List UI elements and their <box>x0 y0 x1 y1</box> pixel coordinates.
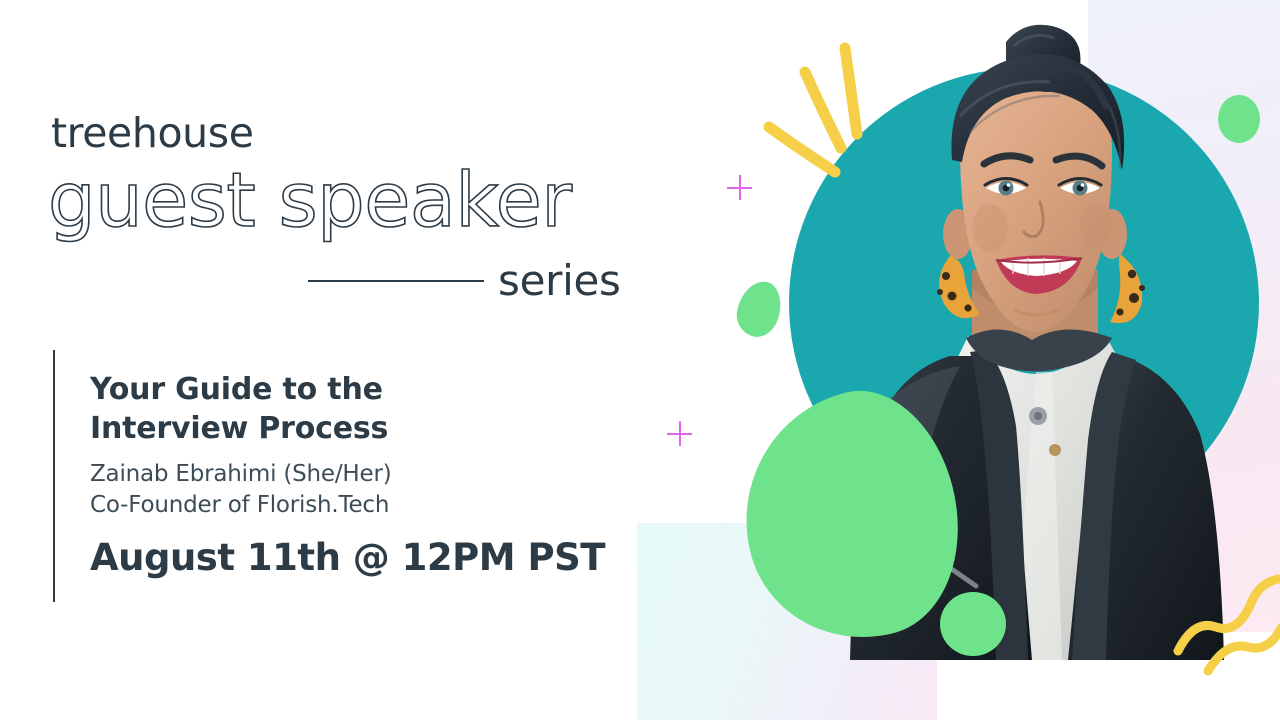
text-column: treehouse guest speaker series Your Guid… <box>0 0 660 720</box>
session-datetime: August 11th @ 12PM PST <box>90 536 605 579</box>
green-blob-small-icon <box>733 277 786 341</box>
speaker-role: Co-Founder of Florish.Tech <box>90 492 389 518</box>
wavy-lines-icon <box>1160 575 1280 685</box>
sparkle-strokes-icon <box>745 30 895 190</box>
plus-mark-icon <box>727 175 752 200</box>
session-accent-rule <box>53 350 55 602</box>
series-divider-rule <box>308 280 484 282</box>
green-circle-icon <box>940 592 1006 656</box>
treehouse-wordmark: treehouse <box>51 109 254 157</box>
series-suffix-label: series <box>498 256 621 305</box>
series-headline: guest speaker <box>48 163 572 238</box>
promo-slide: treehouse guest speaker series Your Guid… <box>0 0 1280 720</box>
speaker-name: Zainab Ebrahimi (She/Her) <box>90 461 392 487</box>
plus-mark-icon <box>667 421 692 446</box>
session-title: Your Guide to the Interview Process <box>90 370 510 448</box>
